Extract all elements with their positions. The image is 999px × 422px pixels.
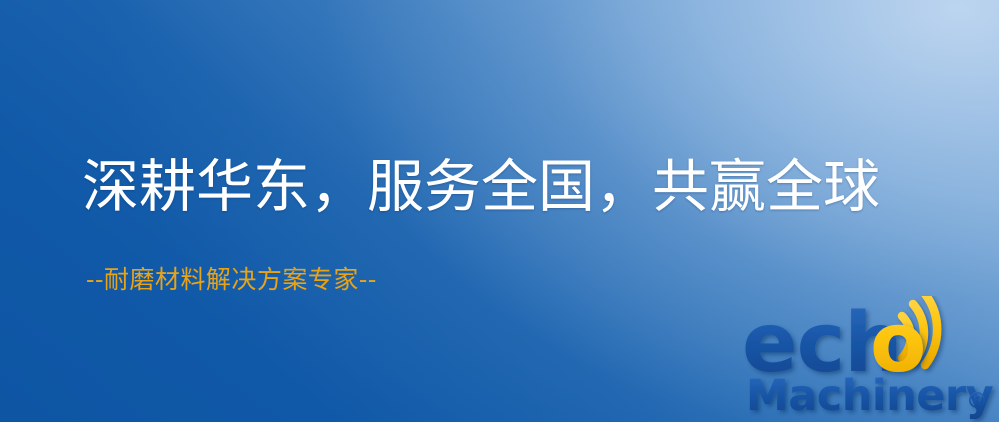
page-subtitle: --耐磨材料解决方案专家-- [86, 266, 377, 295]
logo-tagline: Machinery [746, 371, 994, 421]
registered-trademark-icon: ® [966, 389, 988, 414]
company-logo[interactable]: ech o Machinery ® [742, 296, 999, 422]
page-title: 深耕华东，服务全国，共赢全球 [82, 158, 880, 218]
hero-banner: 深耕华东，服务全国，共赢全球 --耐磨材料解决方案专家-- [0, 0, 999, 422]
